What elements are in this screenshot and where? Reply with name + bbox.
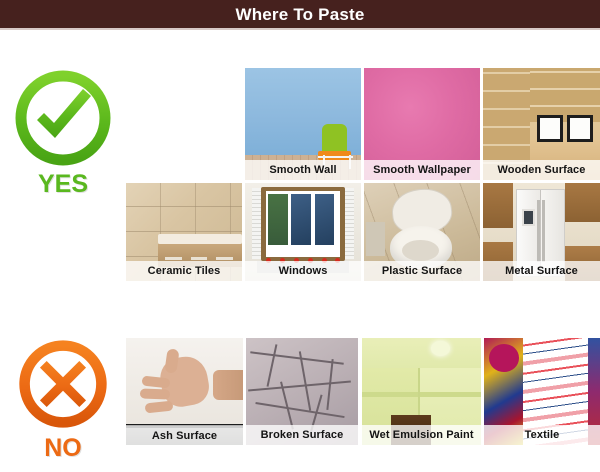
tile-caption: Plastic Surface (364, 261, 480, 281)
tile-caption: Windows (245, 261, 361, 281)
page-title: Where To Paste (235, 6, 364, 23)
tile-caption: Smooth Wall (245, 160, 361, 180)
verdict-no-label: NO (44, 436, 82, 461)
tile-windows[interactable]: Windows (245, 183, 361, 281)
tile-smooth-wall[interactable]: Smooth Wall (245, 68, 361, 180)
tile-metal-surface[interactable]: Metal Surface (483, 183, 600, 281)
where-to-paste-infographic: Where To Paste YES (0, 0, 600, 472)
tile-wet-emulsion-paint[interactable]: Wet Emulsion Paint (362, 338, 481, 445)
tile-caption: Smooth Wallpaper (364, 160, 480, 180)
verdict-yes-label: YES (38, 172, 88, 197)
tile-textile[interactable]: Textile (484, 338, 600, 445)
tile-caption: Metal Surface (483, 261, 600, 281)
orange-cross-circle-icon (15, 336, 111, 432)
tile-caption: Wooden Surface (483, 160, 600, 180)
page-header: Where To Paste (0, 0, 600, 30)
green-check-circle-icon (11, 66, 115, 170)
tile-smooth-wallpaper[interactable]: Smooth Wallpaper (364, 68, 480, 180)
tile-wooden-surface[interactable]: Wooden Surface (483, 68, 600, 180)
tile-ceramic-tiles[interactable]: Ceramic Tiles (126, 183, 242, 281)
tile-caption: Broken Surface (246, 425, 358, 445)
verdict-yes: YES (0, 66, 126, 197)
tile-caption: Wet Emulsion Paint (362, 425, 481, 445)
tile-broken-surface[interactable]: Broken Surface (246, 338, 358, 445)
tile-caption: Ceramic Tiles (126, 261, 242, 281)
tile-ash-surface[interactable]: Ash Surface (126, 338, 243, 445)
tile-caption: Ash Surface (126, 425, 243, 445)
tile-plastic-surface[interactable]: Plastic Surface (364, 183, 480, 281)
tile-caption: Textile (484, 425, 600, 445)
verdict-no: NO (0, 336, 126, 461)
